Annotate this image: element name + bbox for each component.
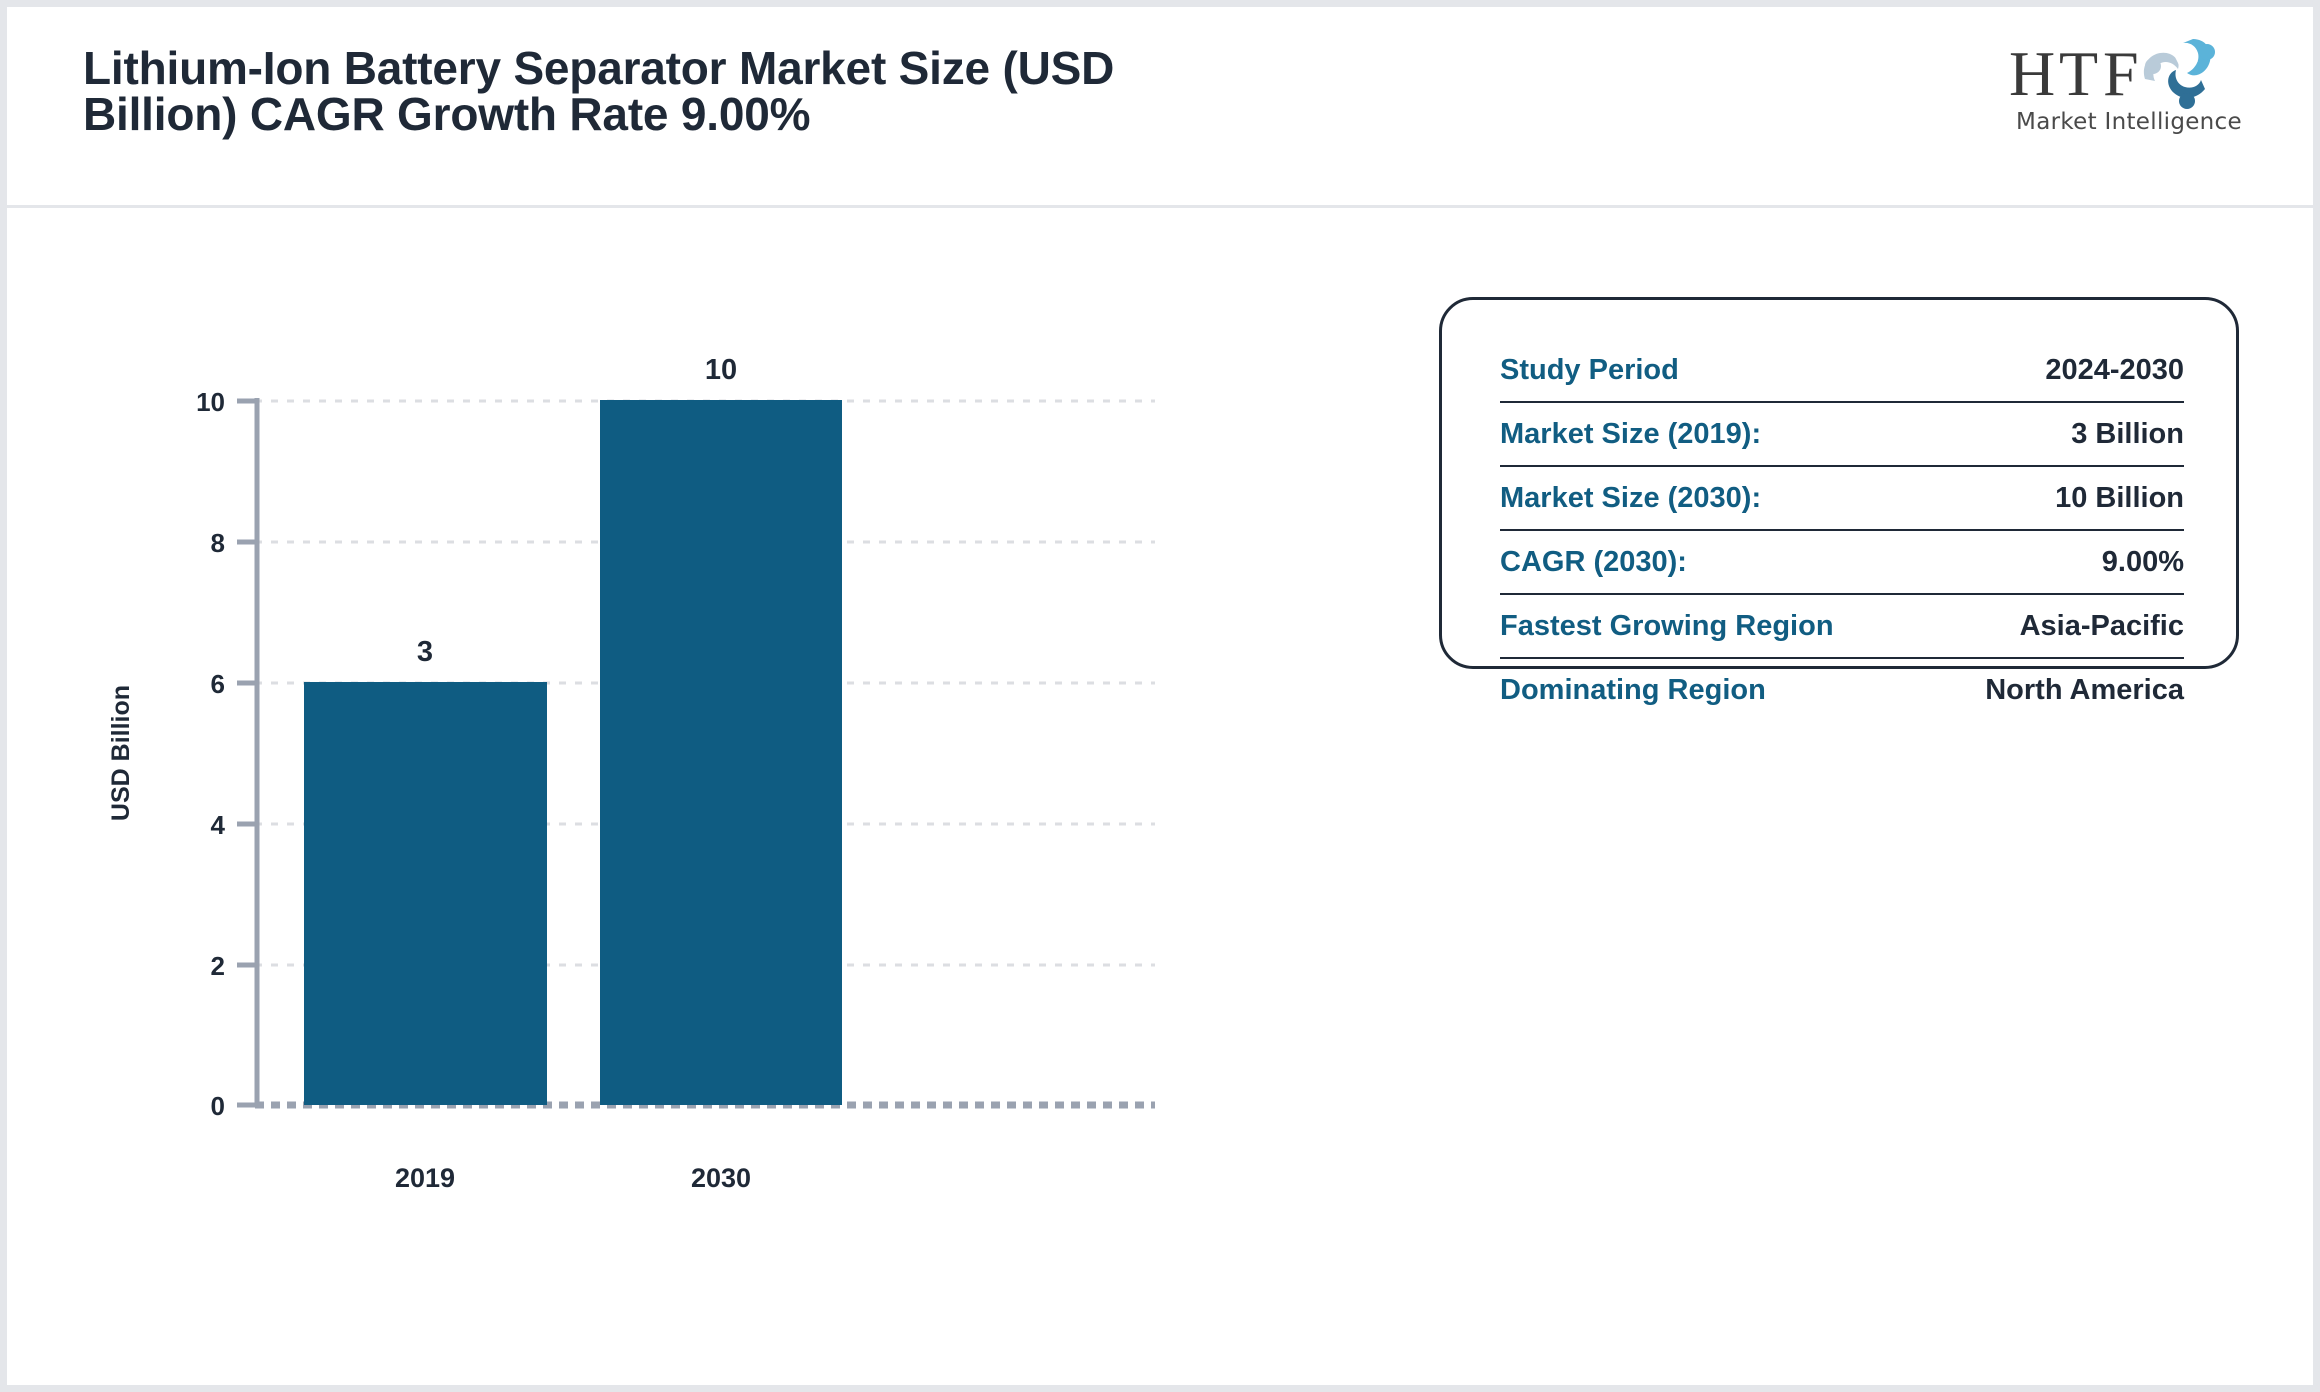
svg-text:T: T: [2059, 38, 2098, 109]
y-tick-label: 4: [211, 810, 226, 840]
info-label: Market Size (2030):: [1500, 467, 1761, 529]
x-tick-label-2030: 2030: [691, 1163, 751, 1193]
info-label: Study Period: [1500, 339, 1679, 401]
y-tick-label: 6: [211, 669, 225, 699]
y-tick-label: 2: [211, 951, 225, 981]
info-value: Asia-Pacific: [2020, 595, 2184, 657]
header: Lithium-Ion Battery Separator Market Siz…: [7, 7, 2313, 208]
info-row-dominating-region: Dominating Region North America: [1500, 657, 2184, 721]
bar-value-label-2019: 3: [417, 636, 433, 668]
info-value: 2024-2030: [2045, 339, 2184, 401]
bar-chart: 10 8 6 4 2 0 USD Billion 3 10 2019 2030: [7, 208, 1307, 1388]
info-row-market-size-2019: Market Size (2019): 3 Billion: [1500, 401, 2184, 465]
info-label: Dominating Region: [1500, 659, 1766, 721]
info-row-cagr-2030: CAGR (2030): 9.00%: [1500, 529, 2184, 593]
y-tick-label: 8: [211, 528, 225, 558]
svg-text:F: F: [2103, 38, 2139, 109]
page-title-line-2: Billion) CAGR Growth Rate 9.00%: [83, 91, 1403, 137]
y-axis-ticks: [237, 401, 257, 1105]
bar-value-label-2030: 10: [705, 354, 737, 386]
info-row-study-period: Study Period 2024-2030: [1500, 339, 2184, 401]
info-label: CAGR (2030):: [1500, 531, 1687, 593]
svg-text:H: H: [2009, 38, 2055, 109]
info-value: 3 Billion: [2071, 403, 2184, 465]
logo-icon: H T F: [2003, 33, 2253, 111]
x-tick-label-2019: 2019: [395, 1163, 455, 1193]
bar-2019[interactable]: [304, 682, 547, 1105]
y-tick-label: 10: [196, 387, 225, 417]
bar-2030[interactable]: [600, 400, 842, 1105]
info-row-fastest-growing-region: Fastest Growing Region Asia-Pacific: [1500, 593, 2184, 657]
market-summary-panel: Study Period 2024-2030 Market Size (2019…: [1439, 297, 2239, 669]
info-label: Market Size (2019):: [1500, 403, 1761, 465]
htf-market-intelligence-logo: H T F Market Intelligence: [2003, 31, 2253, 141]
logo-tagline: Market Intelligence: [2009, 109, 2249, 135]
page-title-line-1: Lithium-Ion Battery Separator Market Siz…: [83, 45, 1403, 91]
info-value: North America: [1985, 659, 2184, 721]
info-value: 9.00%: [2102, 531, 2184, 593]
infographic-page: Lithium-Ion Battery Separator Market Siz…: [0, 0, 2320, 1392]
info-value: 10 Billion: [2055, 467, 2184, 529]
info-row-market-size-2030: Market Size (2030): 10 Billion: [1500, 465, 2184, 529]
info-label: Fastest Growing Region: [1500, 595, 1834, 657]
market-summary-rows: Study Period 2024-2030 Market Size (2019…: [1500, 339, 2184, 721]
y-axis-title: USD Billion: [107, 685, 135, 821]
y-tick-label: 0: [211, 1091, 225, 1121]
page-title: Lithium-Ion Battery Separator Market Siz…: [83, 45, 1403, 137]
